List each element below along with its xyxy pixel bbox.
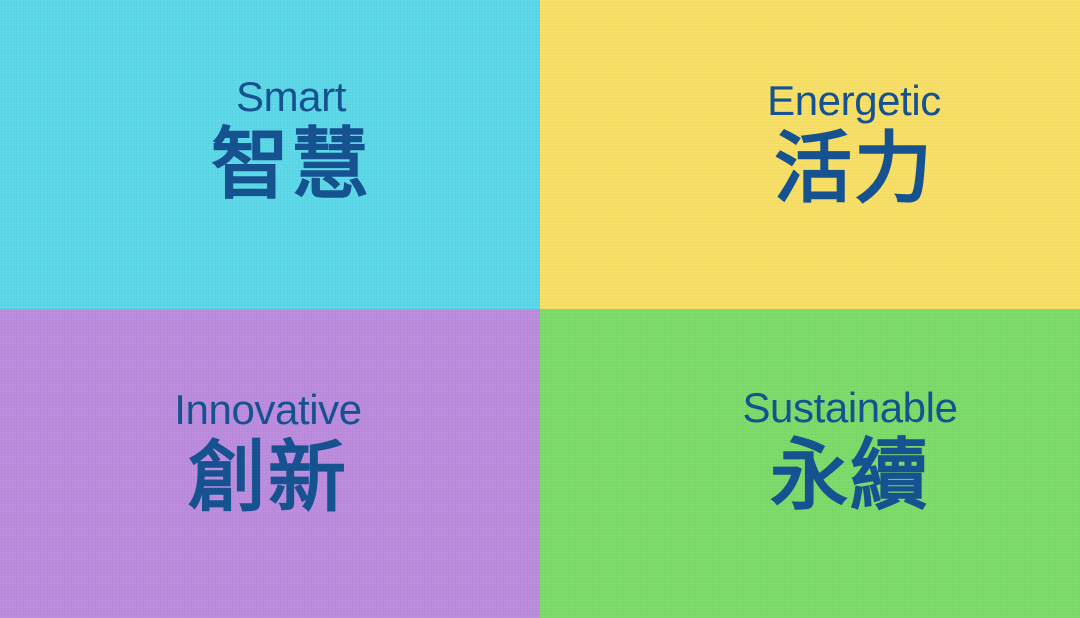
quadrant-smart[interactable]: Smart 智慧 [0,0,540,309]
quadrant-innovative-content: Innovative 創新 [174,388,361,520]
quadrant-sustainable-content: Sustainable 永續 [742,386,957,518]
quadrant-sustainable-label-zh: 永續 [770,433,930,517]
quadrant-smart-label-zh: 智慧 [211,122,371,206]
quadrant-energetic-label-zh: 活力 [774,126,934,210]
quadrant-energetic-label-en: Energetic [767,79,941,123]
quadrant-innovative-label-zh: 創新 [188,435,348,519]
quadrant-innovative[interactable]: Innovative 創新 [0,309,540,618]
quadrant-energetic-content: Energetic 活力 [767,79,941,211]
value-grid: Smart 智慧 Energetic 活力 Innovative 創新 Sust… [0,0,1080,618]
quadrant-sustainable[interactable]: Sustainable 永續 [540,309,1080,618]
quadrant-sustainable-label-en: Sustainable [742,386,957,430]
quadrant-smart-label-en: Smart [236,75,346,119]
quadrant-energetic[interactable]: Energetic 活力 [540,0,1080,309]
quadrant-innovative-label-en: Innovative [174,388,361,432]
quadrant-smart-content: Smart 智慧 [211,75,371,207]
